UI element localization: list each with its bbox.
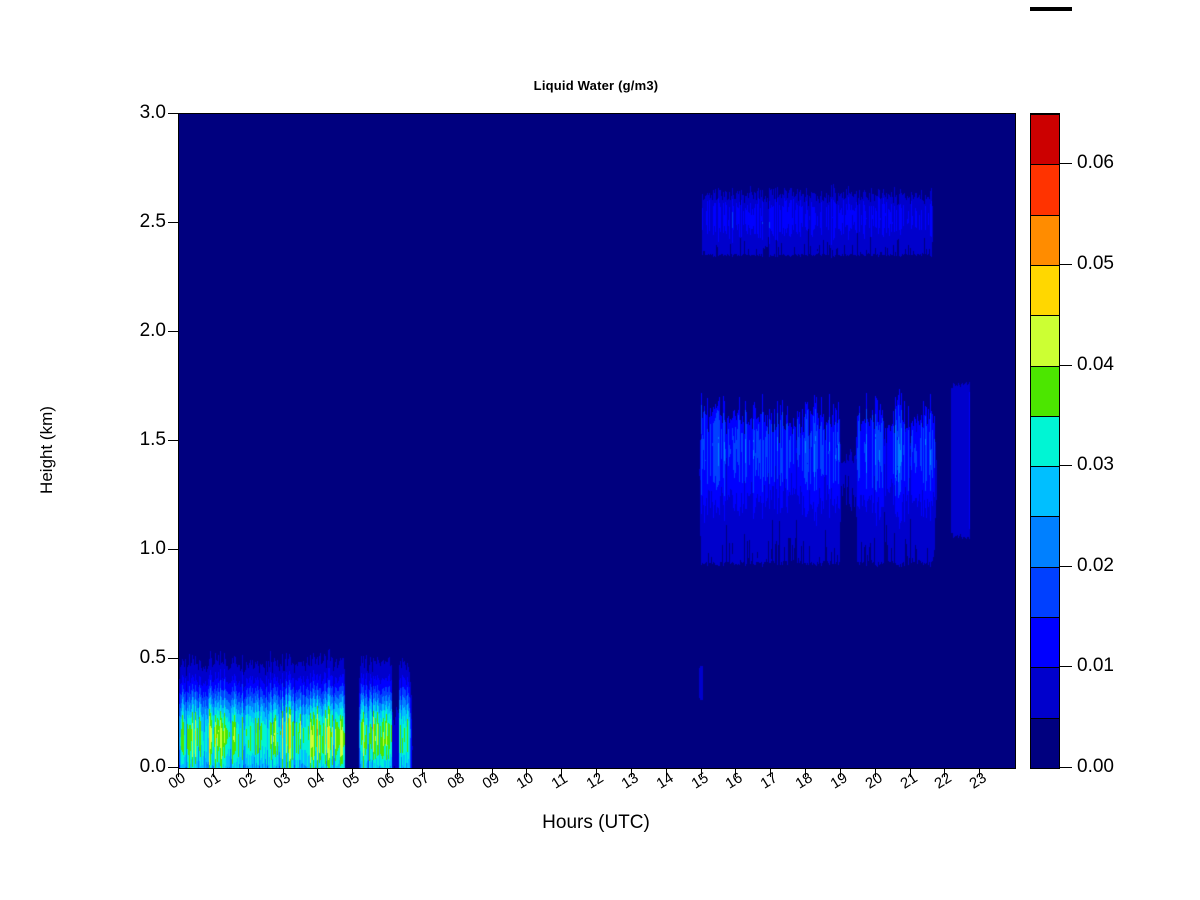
x-tick-label: 01 xyxy=(201,770,223,792)
colorbar-tick-label: 0.05 xyxy=(1077,254,1114,273)
x-axis-title: Hours (UTC) xyxy=(178,812,1014,834)
x-tick-label: 14 xyxy=(654,770,676,792)
colorbar-tick-label: 0.00 xyxy=(1077,757,1114,776)
colorbar-band xyxy=(1031,416,1059,466)
x-tick-label: 22 xyxy=(932,770,954,792)
y-tick-label: 1.5 xyxy=(120,430,166,449)
y-tick-label: 3.0 xyxy=(120,103,166,122)
y-tick-mark xyxy=(168,331,178,332)
colorbar-band xyxy=(1031,667,1059,717)
colorbar-tick-mark xyxy=(1060,767,1072,768)
x-tick-label: 19 xyxy=(828,770,850,792)
colorbar-tick-label: 0.06 xyxy=(1077,153,1114,172)
colorbar-tick-mark xyxy=(1060,566,1072,567)
y-axis-tick-labels: 0.00.51.01.52.02.53.0 xyxy=(114,0,166,900)
y-tick-mark xyxy=(168,767,178,768)
colorbar xyxy=(1030,113,1060,769)
colorbar-band xyxy=(1031,215,1059,265)
y-tick-label: 0.0 xyxy=(120,757,166,776)
colorbar-band xyxy=(1031,516,1059,566)
page-title: Liquid Water (g/m3) xyxy=(178,78,1014,93)
colorbar-band xyxy=(1031,265,1059,315)
colorbar-tick-label: 0.01 xyxy=(1077,656,1114,675)
y-tick-mark xyxy=(168,222,178,223)
x-tick-label: 00 xyxy=(166,770,188,792)
x-tick-label: 09 xyxy=(480,770,502,792)
colorbar-band xyxy=(1031,164,1059,214)
x-tick-label: 11 xyxy=(549,771,570,792)
x-tick-label: 23 xyxy=(967,770,989,792)
x-tick-label: 05 xyxy=(340,770,362,792)
x-tick-label: 04 xyxy=(305,770,327,792)
y-tick-mark xyxy=(168,113,178,114)
colorbar-tick-label: 0.03 xyxy=(1077,455,1114,474)
figure-canvas: Liquid Water (g/m3) 0.00.51.01.52.02.53.… xyxy=(0,0,1200,900)
colorbar-band xyxy=(1031,466,1059,516)
colorbar-tick-mark xyxy=(1060,365,1072,366)
y-tick-mark xyxy=(168,440,178,441)
x-tick-label: 15 xyxy=(689,770,711,792)
y-tick-mark xyxy=(168,549,178,550)
colorbar-band xyxy=(1031,567,1059,617)
colorbar-band xyxy=(1031,718,1059,768)
colorbar-band xyxy=(1031,114,1059,164)
colorbar-tick-label: 0.04 xyxy=(1077,355,1114,374)
x-tick-label: 20 xyxy=(863,770,885,792)
colorbar-tick-mark xyxy=(1060,264,1072,265)
colorbar-tick-label: 0.02 xyxy=(1077,556,1114,575)
x-tick-label: 07 xyxy=(410,770,432,792)
colorbar-band xyxy=(1031,617,1059,667)
heatmap-image xyxy=(179,114,1015,768)
x-tick-label: 06 xyxy=(375,770,397,792)
x-tick-label: 08 xyxy=(445,770,467,792)
y-tick-label: 2.0 xyxy=(120,321,166,340)
x-tick-label: 13 xyxy=(619,770,641,792)
colorbar-band xyxy=(1031,366,1059,416)
colorbar-tick-mark xyxy=(1060,465,1072,466)
colorbar-band xyxy=(1031,315,1059,365)
x-tick-label: 02 xyxy=(236,770,258,792)
x-tick-label: 18 xyxy=(793,770,815,792)
y-tick-mark xyxy=(168,658,178,659)
x-tick-label: 10 xyxy=(514,770,536,792)
colorbar-tick-mark xyxy=(1060,163,1072,164)
x-tick-label: 17 xyxy=(758,770,780,792)
x-tick-label: 16 xyxy=(723,770,745,792)
y-tick-label: 1.0 xyxy=(120,539,166,558)
x-tick-label: 03 xyxy=(271,770,293,792)
y-axis-title: Height (km) xyxy=(37,370,57,530)
x-tick-label: 12 xyxy=(584,770,606,792)
top-edge-artifact xyxy=(1030,7,1072,11)
x-tick-label: 21 xyxy=(898,770,920,792)
heatmap-plot-area xyxy=(178,113,1016,769)
y-tick-label: 2.5 xyxy=(120,212,166,231)
colorbar-tick-mark xyxy=(1060,666,1072,667)
y-tick-label: 0.5 xyxy=(120,648,166,667)
